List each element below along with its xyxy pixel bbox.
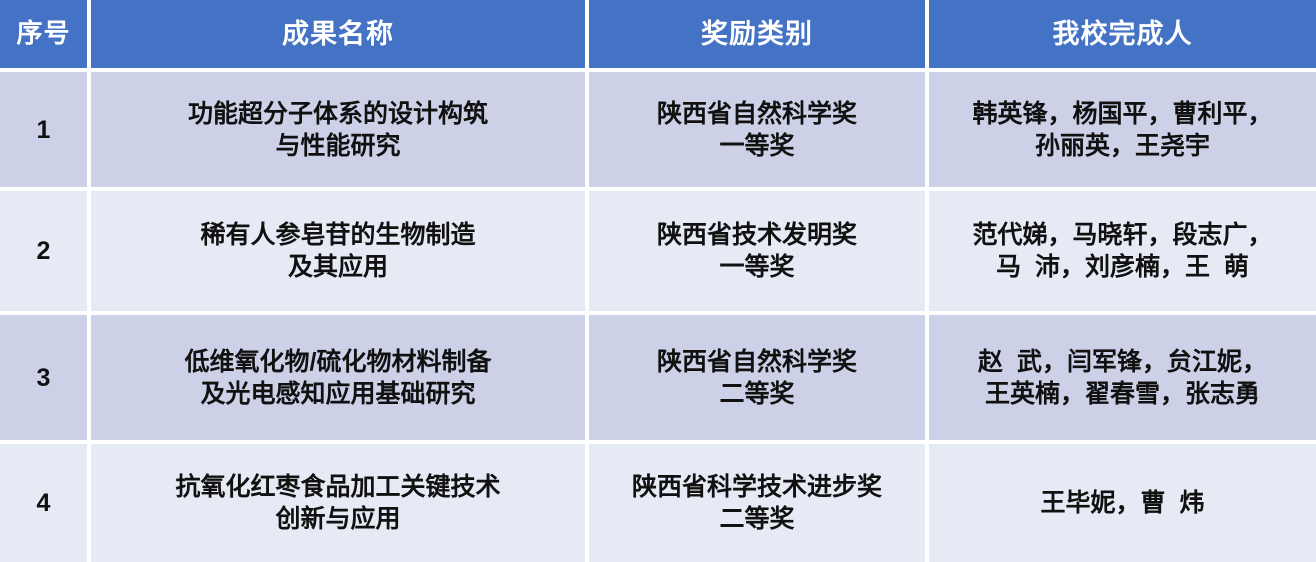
cell-award-type: 陕西省自然科学奖 二等奖 [589, 315, 929, 444]
table-row: 2 稀有人参皂苷的生物制造 及其应用 陕西省技术发明奖 一等奖 范代娣，马晓轩，… [0, 191, 1316, 315]
cell-people-line: 韩英锋，杨国平，曹利平， [935, 98, 1310, 130]
cell-award-line: 陕西省技术发明奖 [595, 219, 919, 251]
cell-name-line: 与性能研究 [97, 130, 579, 162]
cell-name: 功能超分子体系的设计构筑 与性能研究 [91, 72, 589, 191]
column-header-name: 成果名称 [91, 0, 589, 72]
cell-name-line: 抗氧化红枣食品加工关键技术 [97, 471, 579, 503]
cell-name-line: 低维氧化物/硫化物材料制备 [97, 346, 579, 378]
cell-no: 4 [0, 444, 91, 562]
column-header-people: 我校完成人 [929, 0, 1316, 72]
cell-name: 低维氧化物/硫化物材料制备 及光电感知应用基础研究 [91, 315, 589, 444]
cell-award-type: 陕西省自然科学奖 一等奖 [589, 72, 929, 191]
cell-no: 3 [0, 315, 91, 444]
cell-award-line: 一等奖 [595, 130, 919, 162]
cell-people-line: 马 沛，刘彦楠，王 萌 [935, 251, 1310, 283]
table-row: 3 低维氧化物/硫化物材料制备 及光电感知应用基础研究 陕西省自然科学奖 二等奖… [0, 315, 1316, 444]
cell-people: 范代娣，马晓轩，段志广， 马 沛，刘彦楠，王 萌 [929, 191, 1316, 315]
cell-award-line: 陕西省科学技术进步奖 [595, 471, 919, 503]
cell-people: 韩英锋，杨国平，曹利平， 孙丽英，王尧宇 [929, 72, 1316, 191]
cell-people-line: 王毕妮，曹 炜 [935, 487, 1310, 519]
cell-people-line: 孙丽英，王尧宇 [935, 130, 1310, 162]
table-row: 4 抗氧化红枣食品加工关键技术 创新与应用 陕西省科学技术进步奖 二等奖 王毕妮… [0, 444, 1316, 562]
cell-award-line: 陕西省自然科学奖 [595, 346, 919, 378]
cell-name: 抗氧化红枣食品加工关键技术 创新与应用 [91, 444, 589, 562]
cell-award-line: 陕西省自然科学奖 [595, 98, 919, 130]
cell-name-line: 功能超分子体系的设计构筑 [97, 98, 579, 130]
award-results-table: 序号 成果名称 奖励类别 我校完成人 1 功能超分子体系的设计构筑 与性能研究 … [0, 0, 1316, 562]
cell-name-line: 稀有人参皂苷的生物制造 [97, 219, 579, 251]
cell-award-type: 陕西省科学技术进步奖 二等奖 [589, 444, 929, 562]
cell-people-line: 王英楠，翟春雪，张志勇 [935, 378, 1310, 410]
cell-people-line: 范代娣，马晓轩，段志广， [935, 219, 1310, 251]
cell-no: 2 [0, 191, 91, 315]
table-body: 1 功能超分子体系的设计构筑 与性能研究 陕西省自然科学奖 一等奖 韩英锋，杨国… [0, 72, 1316, 562]
column-header-type: 奖励类别 [589, 0, 929, 72]
cell-people: 王毕妮，曹 炜 [929, 444, 1316, 562]
cell-name-line: 及其应用 [97, 251, 579, 283]
column-header-no: 序号 [0, 0, 91, 72]
cell-name: 稀有人参皂苷的生物制造 及其应用 [91, 191, 589, 315]
table-header: 序号 成果名称 奖励类别 我校完成人 [0, 0, 1316, 72]
cell-award-line: 二等奖 [595, 503, 919, 535]
cell-people-line: 赵 武，闫军锋，贠江妮， [935, 346, 1310, 378]
cell-no: 1 [0, 72, 91, 191]
cell-award-line: 一等奖 [595, 251, 919, 283]
header-row: 序号 成果名称 奖励类别 我校完成人 [0, 0, 1316, 72]
cell-award-line: 二等奖 [595, 378, 919, 410]
cell-name-line: 创新与应用 [97, 503, 579, 535]
cell-award-type: 陕西省技术发明奖 一等奖 [589, 191, 929, 315]
cell-people: 赵 武，闫军锋，贠江妮， 王英楠，翟春雪，张志勇 [929, 315, 1316, 444]
table-row: 1 功能超分子体系的设计构筑 与性能研究 陕西省自然科学奖 一等奖 韩英锋，杨国… [0, 72, 1316, 191]
cell-name-line: 及光电感知应用基础研究 [97, 378, 579, 410]
